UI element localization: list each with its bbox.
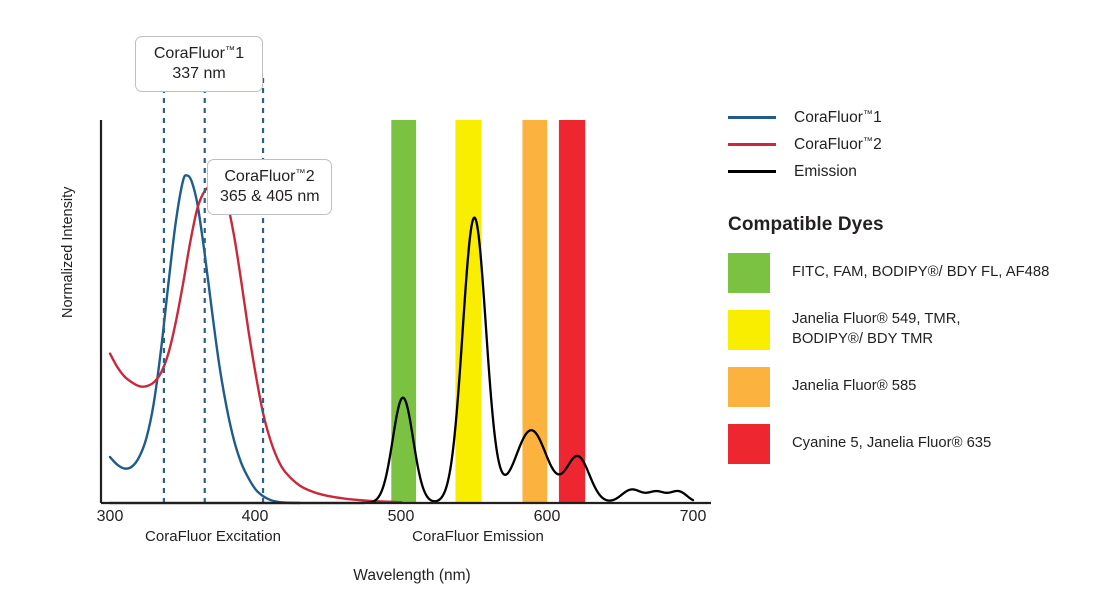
red-band (559, 120, 585, 503)
dye-row-orange: Janelia Fluor® 585 (728, 367, 1110, 407)
callout-2-value: 365 & 405 nm (220, 187, 319, 207)
dye-swatch-red (728, 424, 770, 464)
callout-corafluor-2: CoraFluor™2 365 & 405 nm (207, 159, 332, 215)
legend-line-swatch-emission (728, 170, 776, 173)
legend-series-label-corafluor-2: CoraFluor™2 (794, 136, 882, 154)
compatible-dyes-heading: Compatible Dyes (728, 214, 1110, 236)
dye-swatch-orange (728, 367, 770, 407)
callout-2-name: CoraFluor (224, 168, 295, 185)
curve-corafluor-2 (110, 184, 402, 502)
x-tick-400: 400 (242, 508, 269, 526)
callout-1-tm: ™ (225, 45, 235, 56)
dye-label-green: FITC, FAM, BODIPY®/ BDY FL, AF488 (792, 263, 1049, 283)
legend-line-swatch-corafluor-1 (728, 116, 776, 119)
x-tick-300: 300 (97, 508, 124, 526)
legend-panel: CoraFluor™1 CoraFluor™2 Emission Compati… (728, 104, 1110, 464)
dye-swatch-green (728, 253, 770, 293)
dye-label-yellow: Janelia Fluor® 549, TMR, BODIPY®/ BDY TM… (792, 310, 961, 349)
callout-1-suffix: 1 (235, 45, 244, 62)
legend-series-corafluor-1: CoraFluor™1 (728, 104, 1110, 131)
figure-root: 300 400 500 600 700 CoraFluor Excitation… (0, 0, 1110, 612)
callout-corafluor-1: CoraFluor™1 337 nm (135, 36, 263, 92)
excitation-region-label: CoraFluor Excitation (145, 528, 281, 545)
y-axis-title: Normalized Intensity (60, 187, 76, 318)
legend-line-swatch-corafluor-2 (728, 143, 776, 146)
callout-2-suffix: 2 (306, 168, 315, 185)
legend-series-label-corafluor-1: CoraFluor™1 (794, 109, 882, 127)
emission-region-label: CoraFluor Emission (412, 528, 544, 545)
x-tick-600: 600 (534, 508, 561, 526)
callout-1-name: CoraFluor (154, 45, 225, 62)
dye-row-red: Cyanine 5, Janelia Fluor® 635 (728, 424, 1110, 464)
dye-label-orange: Janelia Fluor® 585 (792, 377, 916, 397)
dye-row-green: FITC, FAM, BODIPY®/ BDY FL, AF488 (728, 253, 1110, 293)
callout-2-tm: ™ (296, 168, 306, 179)
callout-1-value: 337 nm (148, 64, 250, 84)
x-tick-500: 500 (388, 508, 415, 526)
spectra-chart: 300 400 500 600 700 CoraFluor Excitation… (0, 0, 730, 612)
green-band (391, 120, 416, 503)
dye-swatch-yellow (728, 310, 770, 350)
dye-label-red: Cyanine 5, Janelia Fluor® 635 (792, 434, 991, 454)
legend-series-corafluor-2: CoraFluor™2 (728, 131, 1110, 158)
legend-series-label-emission: Emission (794, 163, 857, 181)
legend-series-emission: Emission (728, 158, 1110, 185)
yellow-band (455, 120, 481, 503)
x-axis-title: Wavelength (nm) (353, 567, 470, 585)
x-tick-700: 700 (680, 508, 707, 526)
dye-row-yellow: Janelia Fluor® 549, TMR, BODIPY®/ BDY TM… (728, 310, 1110, 350)
